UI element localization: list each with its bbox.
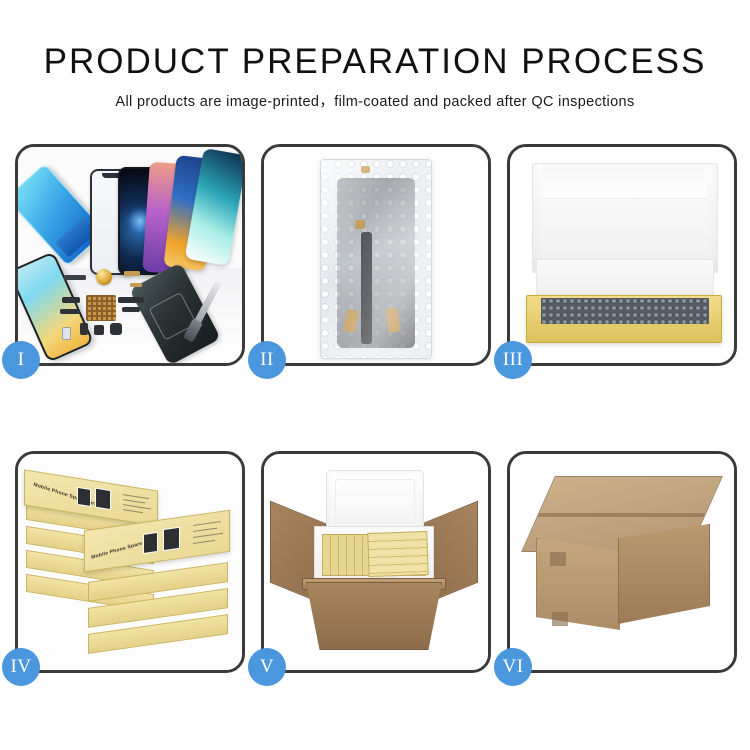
step-badge-1: I xyxy=(2,341,40,379)
step-badge-5: V xyxy=(248,648,286,686)
speaker-part-icon xyxy=(94,325,104,335)
step-4-image: Mobile Phone Spare Parts Mobile Phone Sp… xyxy=(18,454,242,670)
label-phone-image-icon xyxy=(143,532,158,554)
button-part-icon xyxy=(80,323,88,335)
carton-tape-icon xyxy=(550,552,566,566)
process-step-panel-2[interactable]: II xyxy=(261,144,491,366)
flex-cable-icon xyxy=(118,297,144,303)
screw-tray-icon xyxy=(86,295,116,321)
flex-cable-icon xyxy=(122,307,140,312)
step-1-image xyxy=(18,147,242,363)
process-step-panel-1[interactable]: I xyxy=(15,144,245,366)
flex-cable-icon xyxy=(60,309,80,314)
page-header: PRODUCT PREPARATION PROCESS All products… xyxy=(0,0,750,111)
yellow-boxes-inside-icon xyxy=(367,531,428,577)
carton-right-face-icon xyxy=(618,524,710,624)
carton-body-icon xyxy=(306,582,442,650)
page-title: PRODUCT PREPARATION PROCESS xyxy=(0,0,750,82)
carton-left-face-icon xyxy=(536,538,620,630)
flex-cable-icon xyxy=(62,297,80,303)
process-step-panel-5[interactable]: V xyxy=(261,451,491,673)
carton-tape-icon xyxy=(552,612,568,626)
foam-lid-icon xyxy=(326,470,424,532)
bubble-wrap-bag-icon xyxy=(320,159,432,359)
step-5-image xyxy=(264,454,488,670)
step-badge-4: IV xyxy=(2,648,40,686)
screen-flex-cable-icon xyxy=(361,232,372,344)
chip-part-icon xyxy=(64,275,86,280)
process-step-panel-4[interactable]: Mobile Phone Spare Parts Mobile Phone Sp… xyxy=(15,451,245,673)
step-badge-6: VI xyxy=(494,648,532,686)
connector-part-icon xyxy=(124,271,140,276)
yellow-box-tray-icon xyxy=(526,295,722,343)
step-badge-3: III xyxy=(494,341,532,379)
label-phone-image-icon xyxy=(163,527,180,551)
step-badge-2: II xyxy=(248,341,286,379)
gold-component-icon xyxy=(96,269,112,285)
white-box-lid-icon xyxy=(532,163,718,273)
page-subtitle: All products are image-printed，film-coat… xyxy=(0,82,750,111)
process-step-grid: I II III xyxy=(15,144,738,673)
label-phone-image-icon xyxy=(95,488,111,511)
sim-tray-icon xyxy=(62,327,71,340)
step-3-image xyxy=(510,147,734,363)
label-phone-image-icon xyxy=(77,487,91,507)
process-step-panel-3[interactable]: III xyxy=(507,144,737,366)
step-2-image xyxy=(264,147,488,363)
dark-bubble-wrap-icon xyxy=(541,298,709,324)
step-6-image xyxy=(510,454,734,670)
connector-part-icon xyxy=(130,283,142,287)
process-step-panel-6[interactable]: VI xyxy=(507,451,737,673)
connector-icon xyxy=(361,166,370,173)
white-lid-front-icon xyxy=(536,259,714,297)
camera-part-icon xyxy=(110,323,122,335)
connector-icon xyxy=(355,220,365,229)
